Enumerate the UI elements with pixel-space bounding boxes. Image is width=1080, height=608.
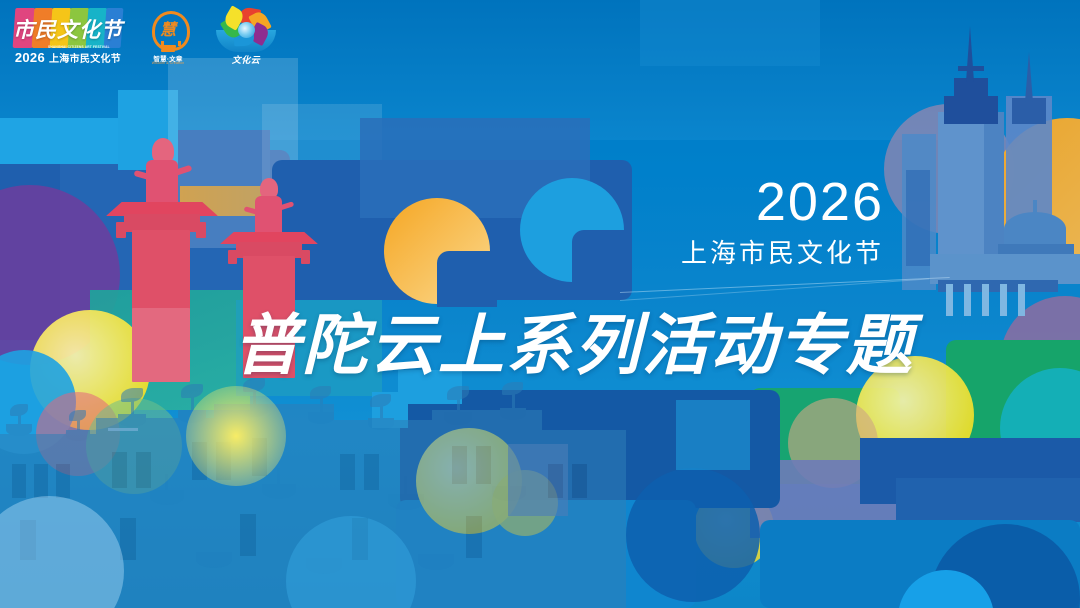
swirl-label: 文化云 — [210, 53, 282, 66]
festival-name: 上海市民文化节 — [681, 233, 884, 270]
event-banner: 市民文化节 2026 上海市民文化节 SHANGHAI CITIZENS ART… — [0, 0, 1080, 608]
logo-english: SHANGHAI CITIZENS ART FESTIVAL — [48, 45, 110, 49]
mid-urn — [418, 554, 454, 570]
tower-slim-left-window — [906, 170, 930, 266]
mid-urn — [196, 552, 232, 568]
facade-window — [136, 452, 151, 488]
facade-window — [476, 446, 491, 484]
lightbulb-logo: 慧 智慧·文章 Wisdom & Creation — [140, 8, 196, 70]
mid-stem — [277, 468, 280, 486]
roof-leaf — [69, 410, 86, 421]
dome-base — [998, 244, 1074, 254]
logo-color-blocks: 市民文化节 — [14, 8, 122, 48]
logo-title-text: 市民文化节 — [14, 9, 122, 49]
colonnade-column — [982, 284, 989, 316]
logo-year: 2026 — [15, 50, 45, 65]
mid-urn — [262, 484, 296, 499]
swirl-logo: 文化云 — [210, 8, 282, 70]
logo-subtitle: 上海市民文化节 — [49, 50, 121, 65]
facade-window — [572, 464, 587, 498]
roof-leaf — [181, 384, 203, 398]
facade-window — [548, 464, 563, 498]
roof-leaf — [370, 394, 391, 407]
tower-primary-spire — [966, 26, 974, 82]
facade-window — [56, 464, 70, 498]
facade-glow-yellow — [186, 386, 286, 486]
colonnade-column — [946, 284, 953, 316]
shimin-wenhuajie-logo: 市民文化节 2026 上海市民文化节 SHANGHAI CITIZENS ART… — [14, 8, 126, 70]
facade-window — [34, 464, 48, 498]
roof-leaf — [447, 386, 469, 400]
facade-block — [432, 410, 542, 608]
mid-urn — [150, 490, 184, 505]
tower-primary-cap — [944, 96, 998, 124]
facade-window — [120, 518, 136, 560]
facade-window — [466, 516, 482, 558]
lightbulb-glyph: 慧 — [156, 17, 180, 39]
facade-window — [364, 454, 379, 490]
swirl-core — [238, 22, 255, 38]
lightbulb-english: Wisdom & Creation — [142, 61, 194, 65]
mid-stem — [507, 470, 510, 488]
tower-colonnade-base — [938, 280, 1058, 292]
mid-urn — [492, 486, 526, 501]
logo-subtitle-row: 2026 上海市民文化节 SHANGHAI CITIZENS ART FESTI… — [14, 50, 122, 65]
lightbulb-base — [160, 45, 176, 48]
facade-window — [112, 452, 127, 488]
facade-window — [340, 454, 355, 490]
facade-block — [530, 430, 626, 608]
colonnade-column — [964, 284, 971, 316]
tower-secondary-spire — [1025, 52, 1033, 102]
year-block: 2026 上海市民文化节 — [681, 176, 884, 270]
dome — [1004, 212, 1066, 246]
facade-window — [240, 514, 256, 556]
page-title: 普陀云上系列活动专题 — [234, 292, 914, 388]
facade-window — [12, 464, 26, 498]
dome-finial — [1033, 200, 1037, 214]
mid-urn — [388, 494, 424, 510]
lightbulb-base-2 — [161, 49, 175, 52]
roof-leaf — [121, 388, 143, 402]
facade-window — [452, 446, 467, 484]
year-text: 2026 — [681, 176, 884, 229]
mid-stem — [404, 476, 407, 496]
logo-row: 市民文化节 2026 上海市民文化节 SHANGHAI CITIZENS ART… — [14, 8, 282, 70]
roof-leaf — [10, 404, 28, 416]
colonnade-column — [1018, 284, 1025, 316]
mid-stem — [165, 474, 168, 492]
swirl-icon — [222, 10, 270, 52]
tower-primary-spire-collar — [958, 66, 984, 71]
colonnade-column — [1000, 284, 1007, 316]
